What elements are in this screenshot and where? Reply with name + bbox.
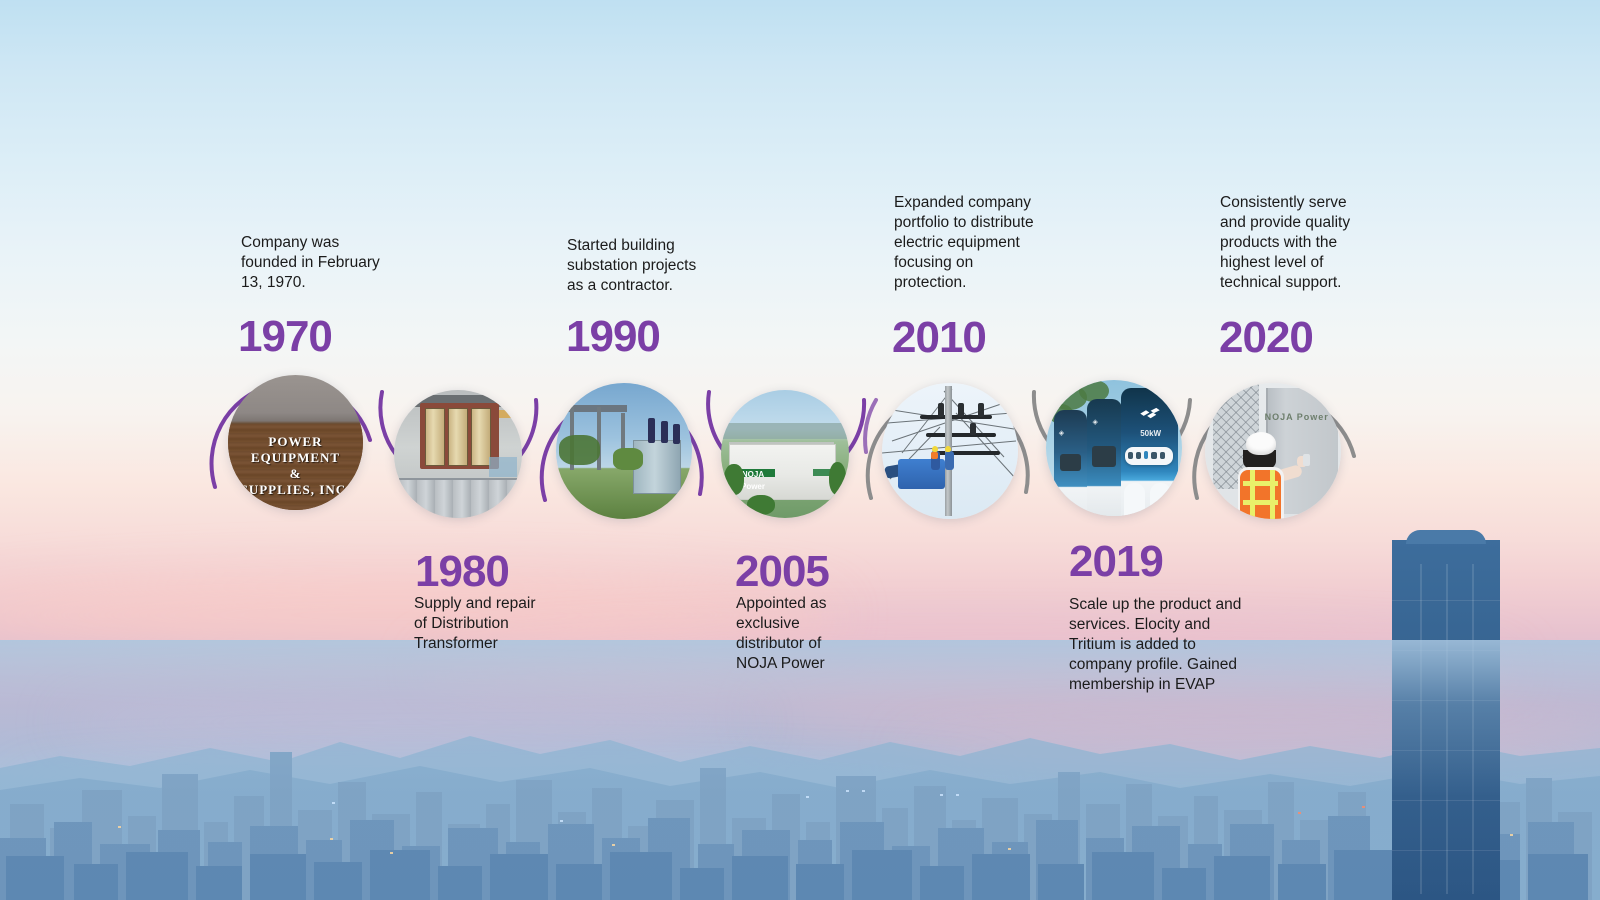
milestone-year: 1990 [566, 315, 660, 359]
milestone-description: Appointed as exclusive distributor of NO… [736, 594, 856, 674]
milestone-photo-2019[interactable]: ◈ ◈ [1046, 380, 1182, 516]
milestone-photo-2010[interactable] [882, 383, 1018, 519]
milestone-year: 1980 [415, 550, 509, 594]
milestone-photo-1990[interactable] [556, 383, 692, 519]
milestone-photo-2020[interactable]: NOJA Power [1205, 383, 1341, 519]
timeline: Company was founded in February 13, 1970… [0, 0, 1600, 900]
milestone-year: 2010 [892, 316, 986, 360]
building-sign: NOJA Power [741, 470, 765, 491]
sign-line-2: & [239, 466, 352, 482]
sign-line-3: SUPPLIES, INC. [239, 482, 352, 498]
milestone-year: 1970 [238, 315, 332, 359]
milestone-year: 2019 [1069, 540, 1163, 584]
charger-power-label: 50kW [1140, 429, 1161, 438]
milestone-photo-1970[interactable]: POWER EQUIPMENT & SUPPLIES, INC. [228, 375, 363, 510]
milestone-photo-2005[interactable]: NOJA Power [721, 390, 849, 518]
infographic-canvas: Company was founded in February 13, 1970… [0, 0, 1600, 900]
milestone-description: Scale up the product and services. Eloci… [1069, 595, 1244, 695]
milestone-year: 2020 [1219, 316, 1313, 360]
milestone-year: 2005 [735, 550, 829, 594]
milestone-description: Consistently serve and provide quality p… [1220, 193, 1360, 293]
milestone-photo-1980[interactable] [394, 390, 522, 518]
milestone-description: Started building substation projects as … [567, 236, 702, 296]
milestone-description: Company was founded in February 13, 1970… [241, 233, 391, 293]
cabinet-brand-label: NOJA Power [1265, 412, 1329, 422]
sign-line-1: POWER EQUIPMENT [239, 434, 352, 466]
milestone-description: Supply and repair of Distribution Transf… [414, 594, 549, 654]
milestone-description: Expanded company portfolio to distribute… [894, 193, 1034, 293]
